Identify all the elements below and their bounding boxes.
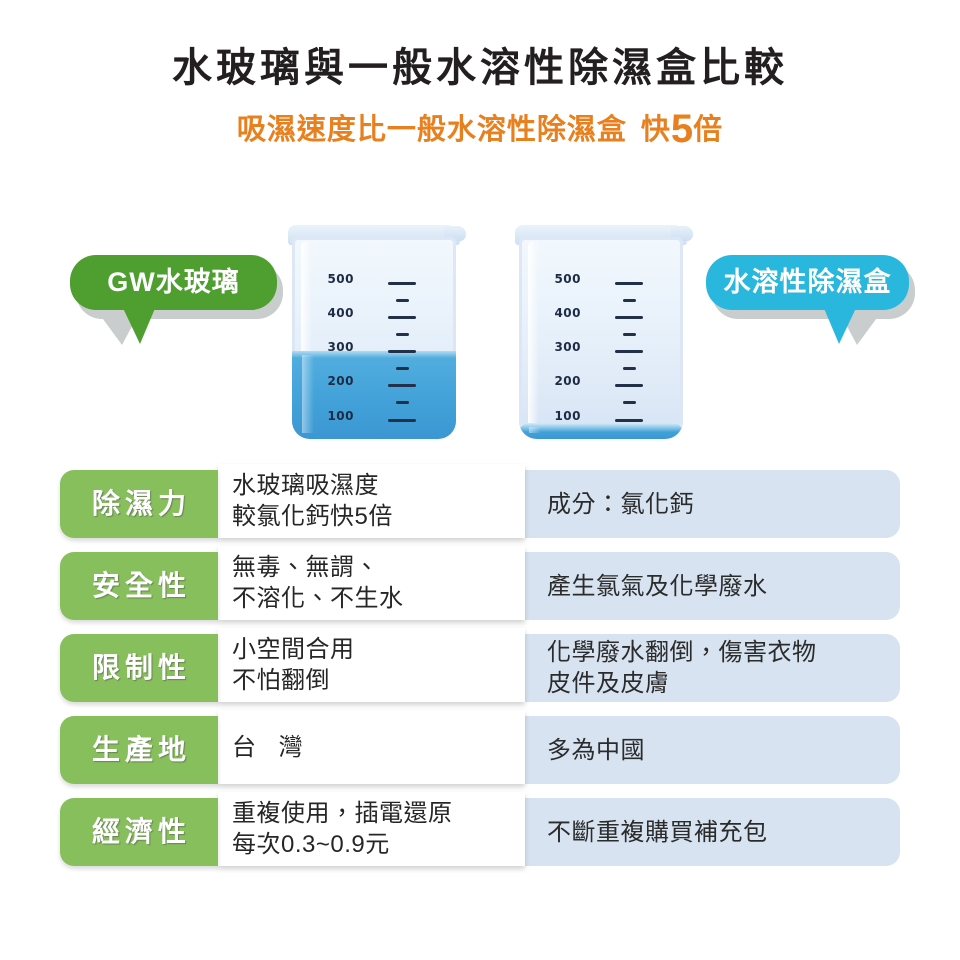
beaker-gw: 500 400 300 200 100 <box>288 225 460 440</box>
callout-body: GW水玻璃 <box>70 255 277 310</box>
row-tag-safety: 安全性 <box>60 552 218 620</box>
callout-label: 水溶性除濕盒 <box>724 269 892 296</box>
comparison-table: 除濕力 水玻璃吸濕度 較氯化鈣快5倍 成分：氯化鈣 安全性 無毒、無謂、 不溶化… <box>0 470 960 874</box>
table-row: 生產地 台 灣 多為中國 <box>0 716 960 784</box>
page-title: 水玻璃與一般水溶性除濕盒比較 <box>0 42 960 94</box>
infographic-page: 水玻璃與一般水溶性除濕盒比較 吸濕速度比一般水溶性除濕盒快5倍 500 400 <box>0 0 960 960</box>
callout-body: 水溶性除濕盒 <box>706 255 909 310</box>
callout-tail <box>823 306 857 344</box>
beaker-dehumidifier-box: 500 400 300 200 100 <box>515 225 687 440</box>
beaker-glass-gw: 500 400 300 200 100 <box>292 237 456 439</box>
subtitle-fast: 快 <box>641 114 671 146</box>
row-cell-gw: 無毒、無謂、 不溶化、不生水 <box>218 546 525 620</box>
row-tag-limitation: 限制性 <box>60 634 218 702</box>
table-row: 安全性 無毒、無謂、 不溶化、不生水 產生氯氣及化學廢水 <box>0 552 960 620</box>
callout-gw-water-glass: GW水玻璃 <box>70 255 277 310</box>
row-tag-economy: 經濟性 <box>60 798 218 866</box>
row-cell-other: 不斷重複購買補充包 <box>525 798 900 866</box>
beaker-scale-box: 500 400 300 200 100 <box>519 237 683 439</box>
table-row: 除濕力 水玻璃吸濕度 較氯化鈣快5倍 成分：氯化鈣 <box>0 470 960 538</box>
table-row: 限制性 小空間合用 不怕翻倒 化學廢水翻倒，傷害衣物 皮件及皮膚 <box>0 634 960 702</box>
table-row: 經濟性 重複使用，插電還原 每次0.3~0.9元 不斷重複購買補充包 <box>0 798 960 866</box>
row-cell-other: 成分：氯化鈣 <box>525 470 900 538</box>
beaker-scale-gw: 500 400 300 200 100 <box>292 237 456 439</box>
callout-label: GW水玻璃 <box>107 269 240 296</box>
subtitle-times-unit: 倍 <box>693 114 723 146</box>
row-cell-gw: 水玻璃吸濕度 較氯化鈣快5倍 <box>218 464 525 538</box>
row-cell-gw: 重複使用，插電還原 每次0.3~0.9元 <box>218 792 525 866</box>
row-cell-gw: 小空間合用 不怕翻倒 <box>218 628 525 702</box>
row-cell-other: 多為中國 <box>525 716 900 784</box>
row-cell-other: 化學廢水翻倒，傷害衣物 皮件及皮膚 <box>525 634 900 702</box>
row-tag-dehumidify: 除濕力 <box>60 470 218 538</box>
page-subtitle: 吸濕速度比一般水溶性除濕盒快5倍 <box>0 108 960 152</box>
row-cell-other: 產生氯氣及化學廢水 <box>525 552 900 620</box>
callout-tail <box>122 306 156 344</box>
beaker-glass-box: 500 400 300 200 100 <box>519 237 683 439</box>
subtitle-text: 吸濕速度比一般水溶性除濕盒 <box>237 114 627 146</box>
row-tag-origin: 生產地 <box>60 716 218 784</box>
callout-water-soluble-box: 水溶性除濕盒 <box>706 255 909 310</box>
subtitle-multiplier: 5 <box>671 107 693 151</box>
row-cell-gw: 台 灣 <box>218 710 525 784</box>
